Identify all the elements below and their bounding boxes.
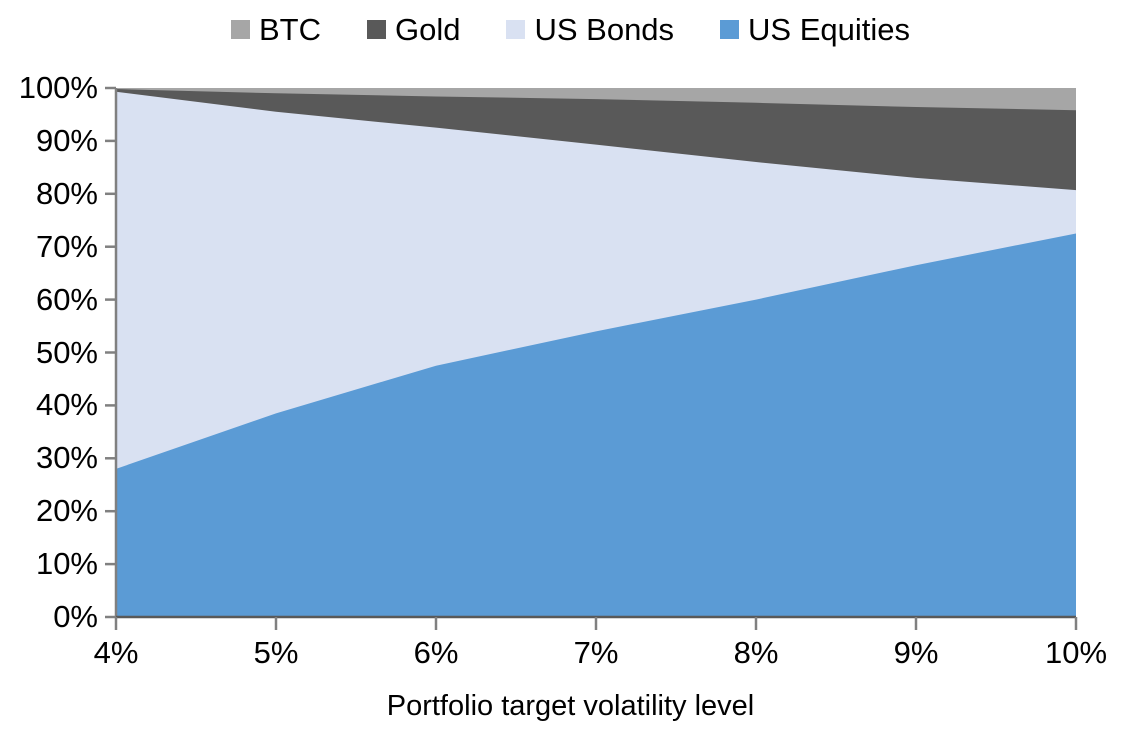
stacked-area-chart: BTCGoldUS BondsUS Equities 0%10%20%30%40… — [0, 0, 1141, 742]
x-axis-tick-label: 5% — [206, 637, 346, 668]
x-axis-tick-label: 8% — [686, 637, 826, 668]
y-axis-tick-label: 0% — [0, 601, 98, 632]
y-axis-tick-label: 40% — [0, 389, 98, 420]
plot-svg — [0, 0, 1141, 742]
y-axis-tick-label: 90% — [0, 125, 98, 156]
x-axis-tick-label: 9% — [846, 637, 986, 668]
x-axis-tick-label: 7% — [526, 637, 666, 668]
y-axis-tick-label: 60% — [0, 284, 98, 315]
x-axis-tick-label: 6% — [366, 637, 506, 668]
y-axis-tick-label: 30% — [0, 442, 98, 473]
x-axis-tick-label: 10% — [1006, 637, 1141, 668]
y-axis-tick-label: 70% — [0, 231, 98, 262]
series-layer — [116, 88, 1076, 617]
y-axis-tick-label: 10% — [0, 548, 98, 579]
x-axis-tick-label: 4% — [46, 637, 186, 668]
y-axis-tick-label: 80% — [0, 178, 98, 209]
y-axis-tick-label: 100% — [0, 72, 98, 103]
x-axis-title: Portfolio target volatility level — [0, 690, 1141, 722]
plot-area — [0, 0, 1141, 742]
y-axis-tick-label: 20% — [0, 495, 98, 526]
y-axis-tick-label: 50% — [0, 337, 98, 368]
